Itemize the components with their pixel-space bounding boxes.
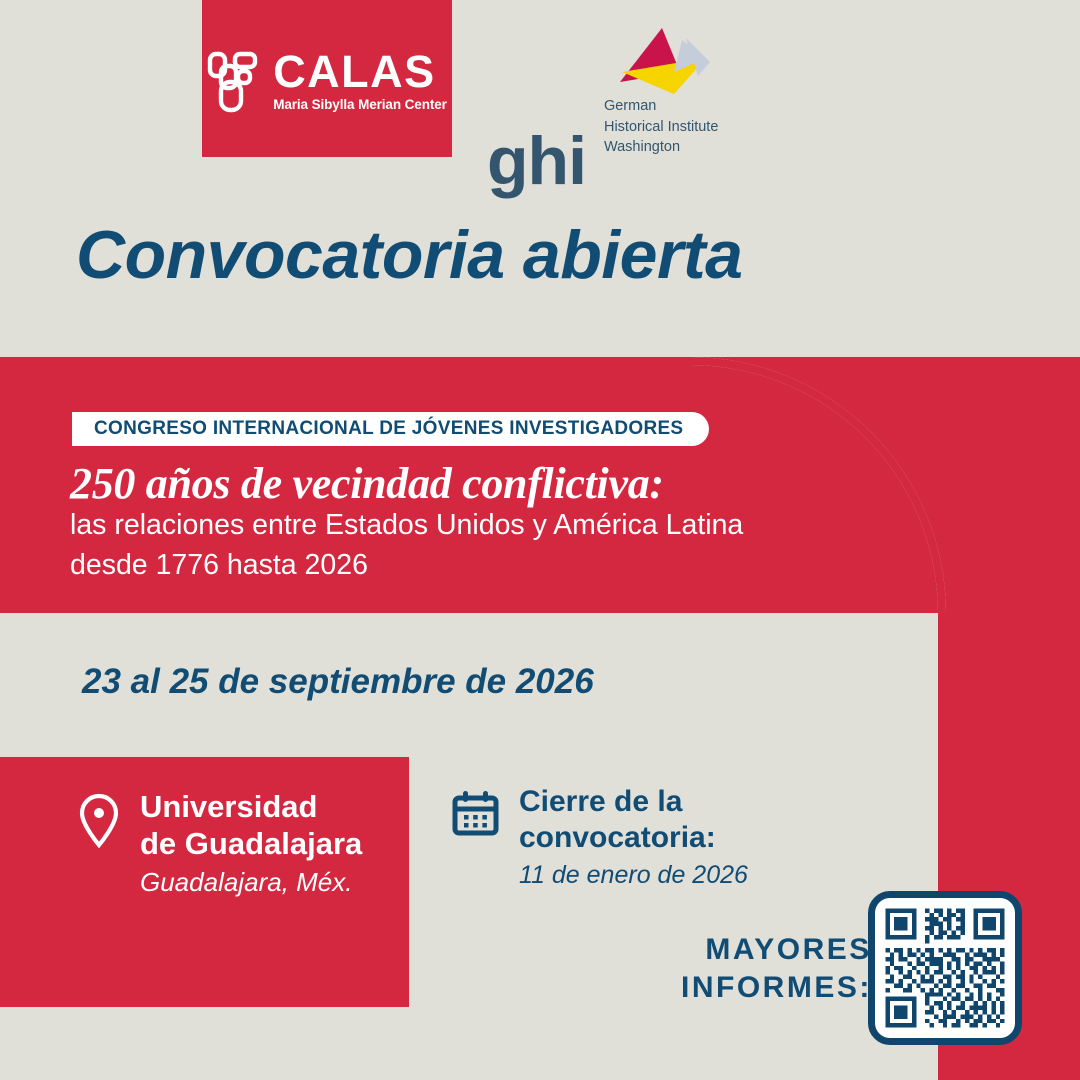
ghi-wordmark: ghi (487, 134, 586, 188)
venue-name: Universidad de Guadalajara (140, 789, 362, 862)
calendar-icon (452, 790, 499, 837)
calas-subtitle: Maria Sibylla Merian Center (273, 97, 447, 112)
calas-wordmark: CALAS (273, 51, 436, 94)
ghi-burst-mark (590, 24, 730, 104)
header: CALAS Maria Sibylla Merian Center ghi Ge… (0, 0, 1080, 160)
qr-code-icon (881, 904, 1009, 1032)
congress-pill: CONGRESO INTERNACIONAL DE JÓVENES INVEST… (72, 412, 709, 446)
deadline-date: 11 de enero de 2026 (519, 861, 748, 890)
page-title: Convocatoria abierta (76, 216, 742, 294)
deadline-block: Cierre de la convocatoria: 11 de enero d… (452, 784, 748, 890)
congress-headline: 250 años de vecindad conflictiva: (70, 458, 664, 509)
ghi-institute-name: German Historical Institute Washington (604, 96, 718, 158)
congress-subtitle: las relaciones entre Estados Unidos y Am… (70, 505, 743, 586)
ghi-logo: ghi German Historical Institute Washingt… (487, 24, 730, 154)
location-pin-icon (78, 793, 120, 849)
calas-logo-mark (207, 51, 259, 113)
congress-pill-label: CONGRESO INTERNACIONAL DE JÓVENES INVEST… (94, 418, 683, 440)
venue-city: Guadalajara, Méx. (140, 867, 362, 898)
deadline-title: Cierre de la convocatoria: (519, 784, 748, 856)
event-date: 23 al 25 de septiembre de 2026 (82, 662, 594, 702)
qr-code[interactable] (868, 891, 1022, 1045)
more-info-label: MAYORES INFORMES: (681, 931, 872, 1008)
venue-card: Universidad de Guadalajara Guadalajara, … (0, 757, 409, 1007)
calas-logo: CALAS Maria Sibylla Merian Center (202, 0, 452, 157)
